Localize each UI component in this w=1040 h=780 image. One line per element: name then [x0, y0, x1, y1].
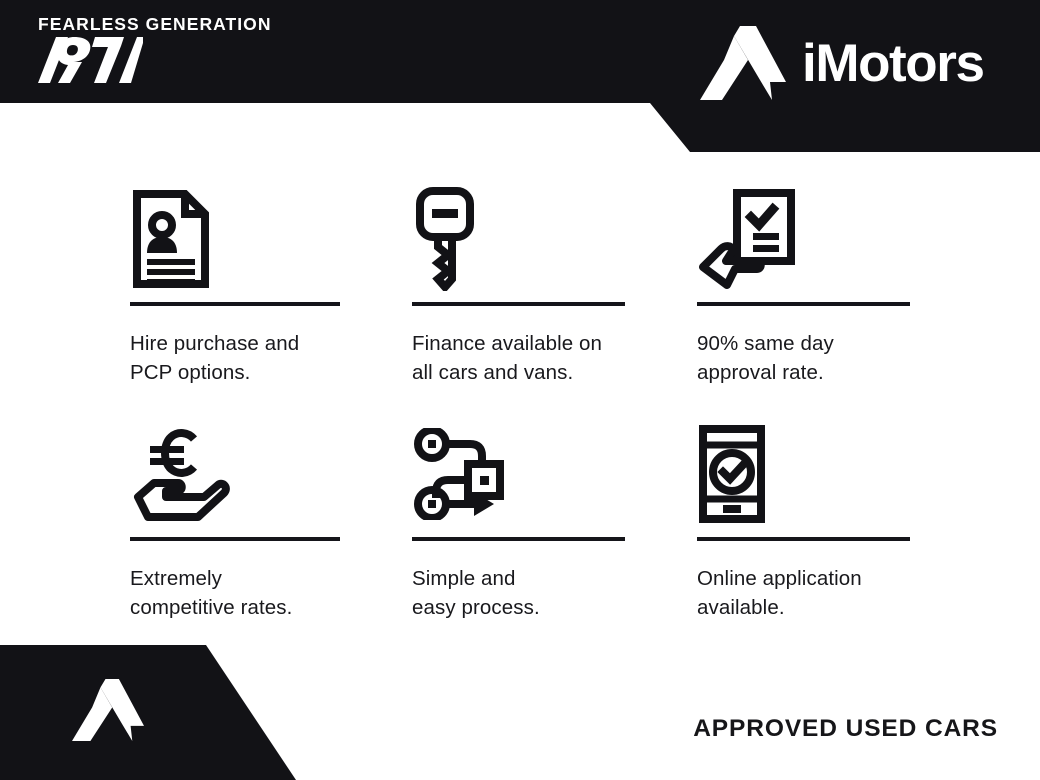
feature-card-same-day-approval: 90% same day approval rate.: [697, 180, 910, 387]
feature-caption: Extremely competitive rates.: [130, 564, 340, 622]
divider-rule: [697, 302, 910, 306]
grid-gap: [625, 415, 697, 622]
fearless-generation-brand: FEARLESS GENERATION: [38, 16, 272, 83]
euro-in-hand-icon: [130, 415, 340, 533]
feature-caption: 90% same day approval rate.: [697, 329, 910, 387]
feature-caption: Hire purchase and PCP options.: [130, 329, 340, 387]
divider-rule: [697, 537, 910, 541]
footer-banner: [0, 645, 300, 780]
divider-rule: [130, 302, 340, 306]
car-key-icon: [412, 180, 625, 298]
promo-poster: FEARLESS GENERATION: [0, 0, 1040, 780]
grid-gap: [340, 415, 412, 622]
divider-rule: [412, 537, 625, 541]
feature-caption: Simple and easy process.: [412, 564, 625, 622]
feature-caption: Finance available on all cars and vans.: [412, 329, 625, 387]
grid-gap: [340, 180, 412, 387]
feature-card-online-application: Online application available.: [697, 415, 910, 622]
year-1971-logo: [38, 37, 143, 83]
grid-gap: [625, 180, 697, 387]
feature-card-easy-process: Simple and easy process.: [412, 415, 625, 622]
divider-rule: [130, 537, 340, 541]
feature-grid: Hire purchase and PCP options. Finance a…: [130, 180, 916, 622]
smartphone-check-icon: [697, 415, 910, 533]
feature-card-hire-purchase: Hire purchase and PCP options.: [130, 180, 340, 387]
footer-imotors-chevron-icon: [72, 668, 144, 752]
hand-holding-checklist-icon: [697, 180, 910, 298]
feature-caption: Online application available.: [697, 564, 910, 622]
imotors-chevron-icon: [700, 26, 786, 100]
imotors-logo-lockup: iMotors: [700, 26, 984, 100]
feature-card-competitive-rates: Extremely competitive rates.: [130, 415, 340, 622]
approved-used-cars-text: APPROVED USED CARS: [693, 715, 998, 743]
id-document-icon: [130, 180, 340, 298]
imotors-wordmark: iMotors: [802, 37, 984, 90]
divider-rule: [412, 302, 625, 306]
feature-card-finance-available: Finance available on all cars and vans.: [412, 180, 625, 387]
tagline-fearless-generation: FEARLESS GENERATION: [38, 16, 272, 34]
process-flow-icon: [412, 415, 625, 533]
